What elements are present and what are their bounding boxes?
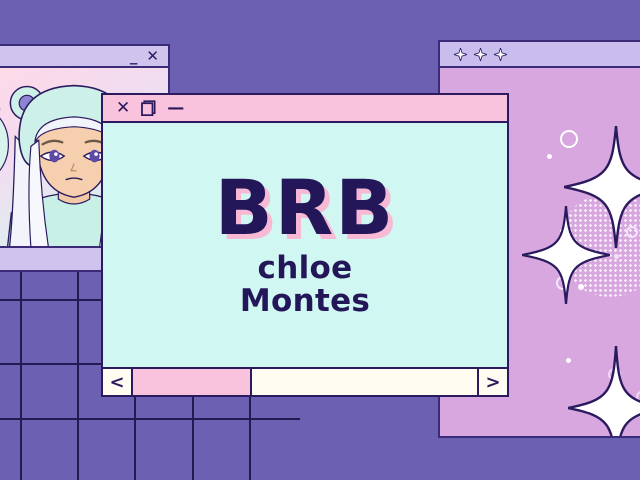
close-x-icon[interactable]: ✕: [116, 100, 130, 117]
sparkle-diamond-2-icon: [474, 48, 487, 61]
bubble-ring-top-right: [636, 390, 640, 405]
scrollbar-thumb[interactable]: [133, 369, 252, 395]
minimize-dash-icon[interactable]: —: [167, 100, 184, 117]
bubble-ring-lower: [556, 276, 570, 290]
four-point-star-bottom-icon: [568, 346, 640, 436]
bubble-ring-medium: [626, 226, 638, 238]
halftone-dot-texture: [558, 193, 640, 297]
bubble-ring-bottom: [608, 368, 621, 381]
horizontal-scrollbar[interactable]: < >: [103, 367, 507, 395]
brb-window[interactable]: ✕ — BRB chloe Montes < >: [101, 93, 509, 397]
sparkle-diamond-3-icon: [494, 48, 507, 61]
bubble-ring-large: [560, 130, 578, 148]
subtitle-line-2: Montes: [240, 285, 370, 318]
brb-content-area: BRB chloe Montes: [103, 123, 507, 367]
minimize-dash-icon[interactable]: _: [130, 49, 138, 64]
bubble-dot-lower: [578, 284, 584, 290]
poster-canvas: _ ✕: [0, 0, 640, 480]
page-title: BRB: [215, 171, 395, 245]
bubble-dot-tiny: [614, 254, 619, 259]
bubble-dot-bottom: [566, 358, 571, 363]
scroll-right-arrow[interactable]: >: [477, 369, 507, 395]
scroll-left-arrow[interactable]: <: [103, 369, 133, 395]
close-x-icon[interactable]: ✕: [146, 49, 159, 64]
scrollbar-track[interactable]: [133, 369, 477, 395]
character-window-titlebar[interactable]: _ ✕: [0, 46, 168, 68]
brb-window-titlebar[interactable]: ✕ —: [103, 95, 507, 123]
bubble-dot-small: [547, 154, 552, 159]
sparkle-diamond-1-icon: [454, 48, 467, 61]
subtitle-line-1: chloe: [258, 252, 353, 285]
sparkle-window-titlebar[interactable]: [440, 42, 640, 68]
maximize-square-icon[interactable]: [141, 100, 156, 116]
